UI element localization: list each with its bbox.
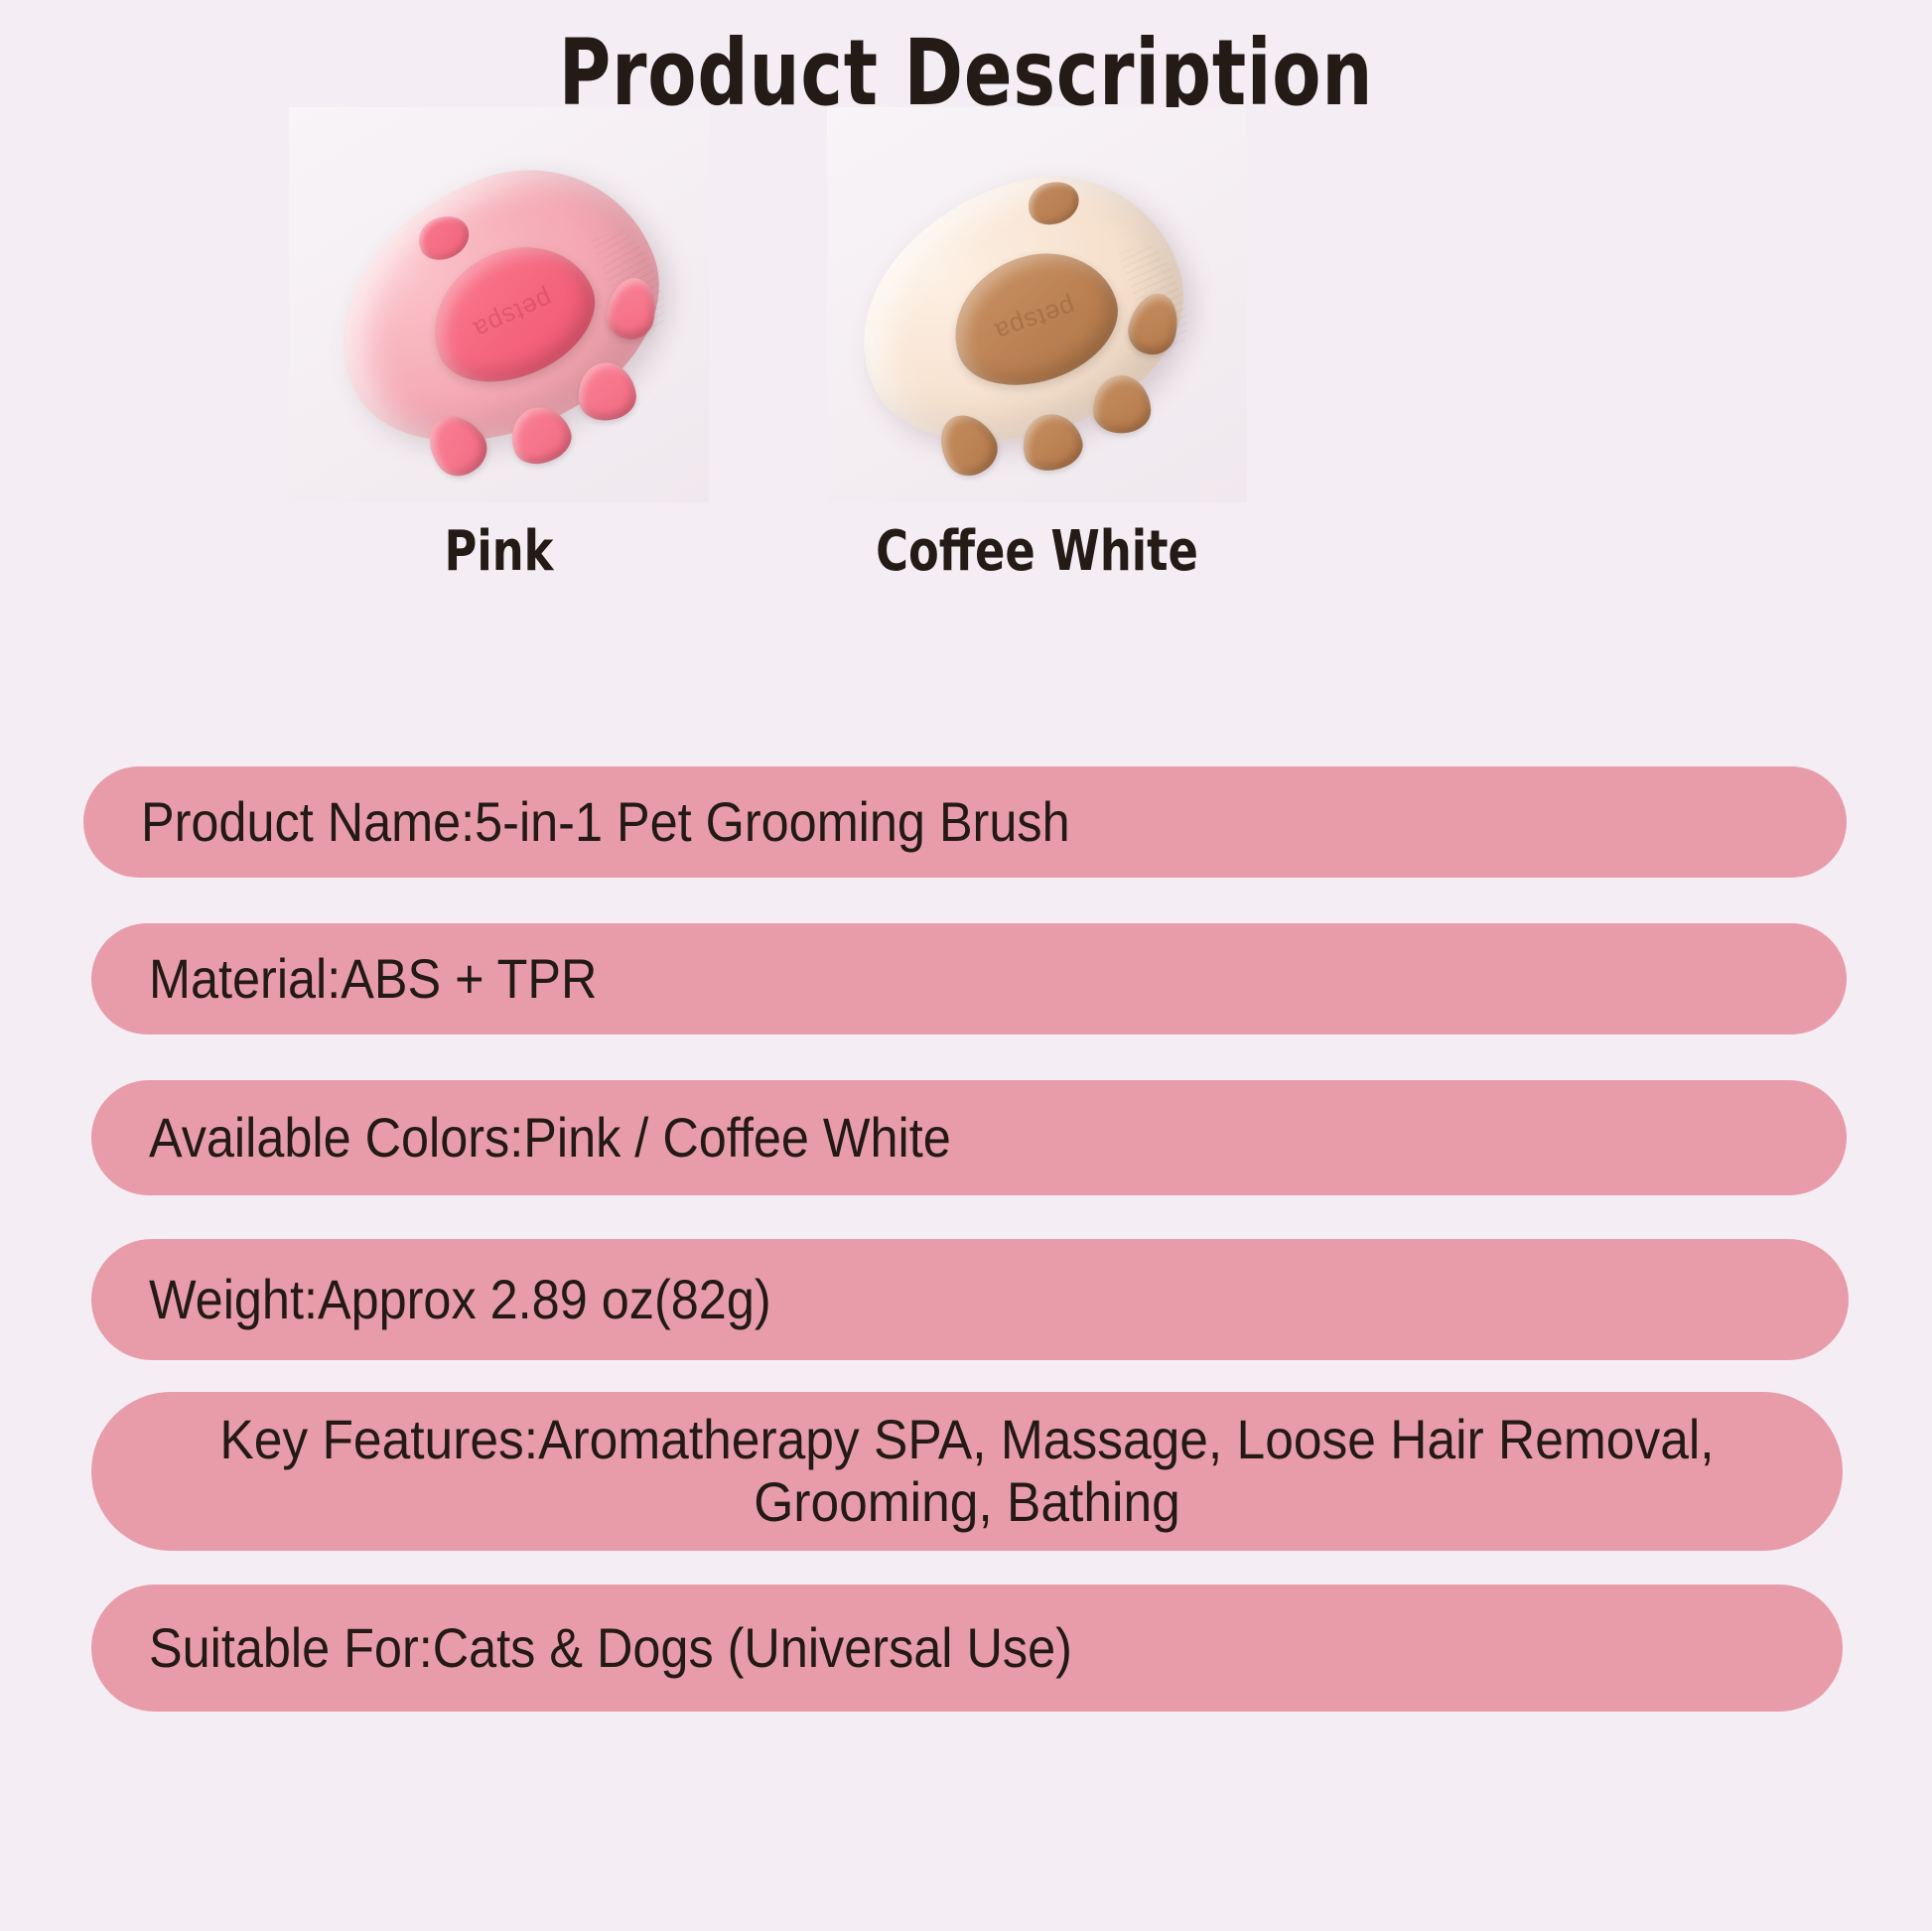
spec-text: Key Features:Aromatherapy SPA, Massage, … bbox=[198, 1409, 1735, 1533]
paw-brush-illustration-coffee-white: petspa bbox=[827, 123, 1226, 502]
spec-row-material: Material:ABS + TPR bbox=[91, 923, 1847, 1034]
spec-row-available-colors: Available Colors:Pink / Coffee White bbox=[91, 1080, 1847, 1195]
spec-row-product-name: Product Name:5-in-1 Pet Grooming Brush bbox=[83, 766, 1847, 878]
product-photo-row: petspa petspa bbox=[0, 107, 1932, 504]
spec-text: Material:ABS + TPR bbox=[149, 948, 597, 1011]
color-caption-row: Pink Coffee White bbox=[0, 524, 1932, 604]
spec-list: Product Name:5-in-1 Pet Grooming Brush M… bbox=[0, 766, 1932, 1749]
brand-logo-text: petspa bbox=[990, 291, 1079, 347]
spec-text: Product Name:5-in-1 Pet Grooming Brush bbox=[141, 791, 1070, 854]
color-label-coffee-white: Coffee White bbox=[869, 524, 1204, 580]
spec-text: Suitable For:Cats & Dogs (Universal Use) bbox=[149, 1617, 1072, 1680]
spec-text: Weight:Approx 2.89 oz(82g) bbox=[149, 1269, 771, 1331]
product-photo-pink[interactable]: petspa bbox=[289, 107, 709, 502]
photo-background: petspa bbox=[827, 107, 1247, 502]
spec-row-key-features: Key Features:Aromatherapy SPA, Massage, … bbox=[91, 1392, 1843, 1551]
brand-logo-text: petspa bbox=[468, 283, 556, 345]
spec-row-suitable-for: Suitable For:Cats & Dogs (Universal Use) bbox=[91, 1585, 1843, 1712]
paw-brush-illustration-pink: petspa bbox=[290, 111, 709, 502]
color-label-pink: Pink bbox=[331, 524, 666, 580]
spec-text: Available Colors:Pink / Coffee White bbox=[149, 1107, 951, 1170]
photo-background: petspa bbox=[289, 107, 709, 502]
spec-row-weight: Weight:Approx 2.89 oz(82g) bbox=[91, 1239, 1849, 1360]
product-photo-coffee-white[interactable]: petspa bbox=[827, 107, 1247, 502]
product-description-page: Product Description petspa bbox=[0, 0, 1932, 1931]
